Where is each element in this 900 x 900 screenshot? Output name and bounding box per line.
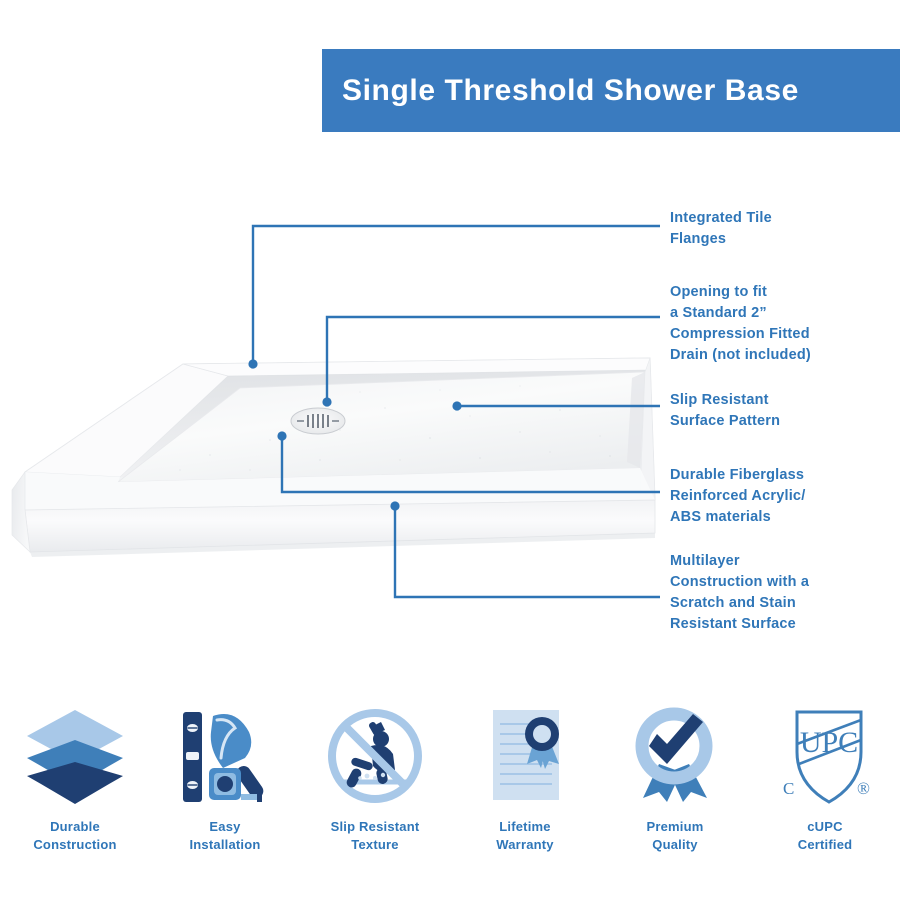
callout-slip-resistant-surface-pattern: Slip Resistant Surface Pattern	[670, 390, 780, 432]
feature-label: Slip Resistant Texture	[331, 818, 420, 853]
no-slipping-icon	[323, 700, 427, 812]
callout-multilayer-construction: Multilayer Construction with a Scratch a…	[670, 551, 809, 635]
upc-shield-icon: UPC C ®	[773, 700, 877, 812]
feature-slip-resistant-texture: Slip Resistant Texture	[300, 700, 450, 870]
infographic-page: Single Threshold Shower Base	[0, 0, 900, 900]
feature-lifetime-warranty: Lifetime Warranty	[450, 700, 600, 870]
stacked-layers-icon	[23, 700, 127, 812]
callout-integrated-tile-flanges: Integrated Tile Flanges	[670, 208, 772, 250]
callout-drain-opening: Opening to fit a Standard 2” Compression…	[670, 282, 811, 366]
level-trowel-tools-icon	[173, 700, 277, 812]
feature-easy-installation: Easy Installation	[150, 700, 300, 870]
feature-cupc-certified: UPC C ® cUPC Certified	[750, 700, 900, 870]
callout-durable-materials: Durable Fiberglass Reinforced Acrylic/ A…	[670, 465, 805, 528]
product-illustration	[0, 320, 670, 560]
feature-label: Lifetime Warranty	[496, 818, 553, 853]
page-title: Single Threshold Shower Base	[342, 74, 799, 108]
drain-grate	[291, 408, 345, 434]
title-banner: Single Threshold Shower Base	[322, 49, 900, 132]
feature-label: Easy Installation	[189, 818, 260, 853]
feature-premium-quality: Premium Quality	[600, 700, 750, 870]
shield-upc-text: UPC	[800, 726, 858, 759]
shield-c-prefix: C	[783, 779, 794, 798]
certificate-document-icon	[473, 700, 577, 812]
feature-strip: Durable Construction	[0, 700, 900, 870]
feature-label: Durable Construction	[33, 818, 116, 853]
feature-durable-construction: Durable Construction	[0, 700, 150, 870]
shower-base-drawing	[0, 320, 670, 560]
shield-registered-mark: ®	[857, 779, 870, 798]
feature-label: Premium Quality	[646, 818, 703, 853]
feature-label: cUPC Certified	[798, 818, 853, 853]
check-rosette-icon	[623, 700, 727, 812]
